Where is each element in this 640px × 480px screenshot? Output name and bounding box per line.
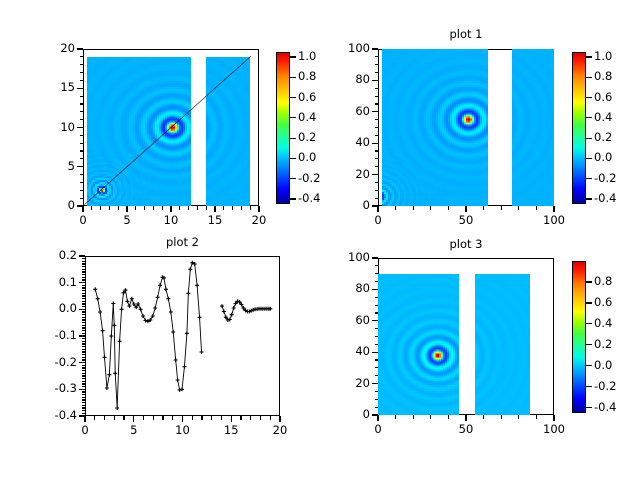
x-tick-major [465, 206, 466, 212]
x-tick-label: 20 [234, 214, 284, 226]
y-tick-major [77, 48, 83, 49]
x-tick-minor [413, 206, 414, 210]
colorbar-tick [290, 77, 296, 78]
y-tick-label: 15 [31, 81, 75, 93]
y-tick-minor [80, 135, 84, 136]
x-tick-major [258, 206, 259, 212]
x-tick-label: 15 [190, 214, 240, 226]
y-tick-minor [82, 359, 86, 360]
y-tick-minor [82, 330, 86, 331]
x-tick-label: 50 [441, 214, 491, 226]
y-tick-minor [82, 410, 86, 411]
line-marker [186, 291, 190, 295]
line-marker [98, 310, 102, 314]
x-tick-minor [91, 206, 92, 210]
y-tick-minor [80, 64, 84, 65]
x-tick-label: 0 [60, 424, 110, 436]
y-tick-minor [82, 354, 86, 355]
line-marker [200, 350, 204, 354]
y-tick-minor [82, 317, 86, 318]
colorbar-tick-label: 0.0 [594, 359, 612, 371]
y-tick-minor [82, 287, 86, 288]
y-tick-minor [82, 258, 86, 259]
x-tick-major [279, 416, 280, 422]
y-tick-minor [375, 72, 379, 73]
y-tick-minor [82, 391, 86, 392]
y-tick-minor [80, 103, 84, 104]
line-marker [195, 283, 199, 287]
line-marker [156, 295, 160, 299]
line-marker [101, 329, 105, 333]
x-tick-label: 10 [158, 424, 208, 436]
line-marker [180, 387, 184, 391]
y-tick-minor [375, 119, 379, 120]
y-tick-minor [375, 375, 379, 376]
y-tick-minor [80, 96, 84, 97]
x-tick-minor [197, 206, 198, 210]
y-tick-minor [375, 150, 379, 151]
x-tick-minor [114, 416, 115, 420]
y-tick-major [79, 389, 85, 390]
line-marker [230, 313, 234, 317]
y-tick-minor [80, 198, 84, 199]
x-tick-minor [201, 416, 202, 420]
diagonal-line [85, 56, 251, 204]
colorbar-tick-label: 0.0 [298, 151, 316, 163]
line-marker [185, 331, 189, 335]
y-tick-minor [82, 397, 86, 398]
x-tick-label: 100 [529, 214, 579, 226]
y-tick-minor [82, 338, 86, 339]
y-tick-label: 0 [326, 199, 370, 211]
y-tick-minor [80, 182, 84, 183]
y-tick-minor [82, 298, 86, 299]
colorbar-tick [586, 77, 592, 78]
line-marker [178, 388, 182, 392]
line-marker [96, 297, 100, 301]
y-tick-label: 20 [326, 377, 370, 389]
colorbar-tick [290, 158, 296, 159]
x-tick-minor [483, 206, 484, 210]
colorbar-tick-label: 1.0 [594, 50, 612, 62]
line-marker [198, 315, 202, 319]
colorbar-tick-label: 0.8 [594, 275, 612, 287]
y-tick-minor [82, 274, 86, 275]
line-marker [183, 365, 187, 369]
x-tick-minor [211, 416, 212, 420]
y-tick-minor [82, 394, 86, 395]
colorbar-tick [586, 344, 592, 345]
colorbar-tick-label: 0.2 [594, 131, 612, 143]
x-tick-minor [501, 206, 502, 210]
y-tick-label: 0.2 [33, 249, 77, 261]
y-tick-major [372, 111, 378, 112]
x-tick-major [182, 416, 183, 422]
y-tick-minor [82, 311, 86, 312]
y-tick-minor [375, 344, 379, 345]
y-tick-major [372, 289, 378, 290]
y-tick-minor [375, 182, 379, 183]
colorbar-tick-label: 0.8 [594, 70, 612, 82]
x-tick-major [170, 206, 171, 212]
y-tick-minor [375, 407, 379, 408]
line-marker [166, 297, 170, 301]
y-tick-minor [375, 56, 379, 57]
y-tick-minor [82, 314, 86, 315]
x-tick-major [553, 206, 554, 212]
colorbar-tick-label: 0.4 [594, 111, 612, 123]
figure-canvas: 0510152005101520 -0.4-0.20.00.20.40.60.8… [0, 0, 640, 480]
y-tick-minor [82, 381, 86, 382]
y-tick-minor [82, 266, 86, 267]
line-marker [127, 304, 131, 308]
y-tick-minor [375, 391, 379, 392]
x-tick-label: 100 [529, 423, 579, 435]
y-tick-minor [80, 150, 84, 151]
y-tick-minor [375, 312, 379, 313]
heatmap-image-a [378, 274, 459, 415]
x-tick-label: 0 [353, 214, 403, 226]
x-tick-minor [395, 206, 396, 210]
y-tick-minor [375, 281, 379, 282]
line-marker [174, 358, 178, 362]
y-tick-minor [375, 135, 379, 136]
y-tick-minor [82, 341, 86, 342]
line-marker [103, 355, 107, 359]
y-tick-major [77, 88, 83, 89]
x-tick-minor [135, 206, 136, 210]
y-tick-minor [375, 64, 379, 65]
line-marker [115, 406, 119, 410]
x-tick-minor [250, 416, 251, 420]
y-tick-minor [82, 285, 86, 286]
y-tick-minor [82, 365, 86, 366]
colorbar-tick [290, 56, 296, 57]
line-marker [105, 386, 109, 390]
x-tick-minor [188, 206, 189, 210]
y-tick-minor [82, 269, 86, 270]
y-tick-label: 20 [326, 168, 370, 180]
y-tick-minor [82, 327, 86, 328]
x-tick-minor [518, 415, 519, 419]
y-tick-minor [82, 271, 86, 272]
line-marker [139, 307, 143, 311]
y-tick-minor [375, 88, 379, 89]
x-tick-minor [104, 416, 105, 420]
y-tick-minor [82, 370, 86, 371]
x-tick-minor [94, 416, 95, 420]
colorbar-tick [586, 198, 592, 199]
colorbar-tick [290, 198, 296, 199]
colorbar-tick [586, 56, 592, 57]
line-marker [228, 318, 232, 322]
x-tick-minor [162, 416, 163, 420]
line-marker [113, 371, 117, 375]
y-tick-minor [82, 279, 86, 280]
y-tick-major [79, 335, 85, 336]
x-tick-minor [536, 206, 537, 210]
colorbar-tick-label: -0.4 [594, 401, 616, 413]
y-tick-minor [375, 166, 379, 167]
line-series-container [85, 256, 280, 416]
y-tick-minor [80, 119, 84, 120]
y-tick-label: 0 [31, 199, 75, 211]
colorbar-tick [290, 178, 296, 179]
y-tick-minor [82, 301, 86, 302]
y-tick-minor [375, 96, 379, 97]
y-tick-minor [375, 399, 379, 400]
colorbar-tick-label: 0.2 [298, 131, 316, 143]
line-marker [111, 302, 115, 306]
x-tick-minor [144, 206, 145, 210]
colorbar-tick-label: -0.4 [298, 192, 320, 204]
subplot-bottom-left-title: plot 2 [85, 236, 280, 248]
x-tick-major [377, 206, 378, 212]
y-tick-minor [80, 190, 84, 191]
y-tick-major [372, 257, 378, 258]
y-tick-major [372, 320, 378, 321]
y-tick-minor [375, 336, 379, 337]
y-tick-minor [82, 343, 86, 344]
x-tick-minor [448, 206, 449, 210]
y-tick-minor [82, 373, 86, 374]
y-tick-minor [375, 328, 379, 329]
y-tick-minor [80, 80, 84, 81]
colorbar-tick-label: 1.0 [298, 50, 316, 62]
x-tick-minor [448, 415, 449, 419]
line-marker [153, 306, 157, 310]
y-tick-minor [82, 413, 86, 414]
line-marker [232, 306, 236, 310]
y-tick-minor [82, 261, 86, 262]
y-tick-minor [80, 56, 84, 57]
y-tick-minor [82, 386, 86, 387]
colorbar-tick-label: 0.6 [594, 296, 612, 308]
colorbar-tick [290, 138, 296, 139]
y-tick-minor [82, 346, 86, 347]
x-tick-minor [192, 416, 193, 420]
x-tick-label: 5 [109, 424, 159, 436]
line-marker [141, 314, 145, 318]
line-marker [164, 287, 168, 291]
x-tick-minor [241, 206, 242, 210]
x-tick-major [214, 206, 215, 212]
x-tick-minor [232, 206, 233, 210]
x-tick-major [553, 415, 554, 421]
x-tick-major [82, 206, 83, 212]
y-tick-minor [375, 367, 379, 368]
x-tick-minor [179, 206, 180, 210]
x-tick-minor [483, 415, 484, 419]
x-tick-label: 15 [206, 424, 256, 436]
heatmap-image-b [512, 49, 554, 206]
x-tick-major [377, 415, 378, 421]
y-tick-minor [375, 359, 379, 360]
y-tick-label: 80 [326, 73, 370, 85]
colorbar-tick-label: -0.2 [594, 380, 616, 392]
y-tick-major [77, 166, 83, 167]
x-tick-major [231, 416, 232, 422]
y-tick-minor [80, 143, 84, 144]
y-tick-minor [82, 290, 86, 291]
x-tick-minor [430, 206, 431, 210]
y-tick-label: 100 [326, 251, 370, 263]
y-tick-major [79, 282, 85, 283]
x-tick-minor [123, 416, 124, 420]
line-marker [112, 323, 116, 327]
y-tick-minor [82, 378, 86, 379]
x-tick-minor [118, 206, 119, 210]
y-tick-minor [375, 297, 379, 298]
y-tick-minor [82, 277, 86, 278]
y-tick-label: 80 [326, 282, 370, 294]
x-tick-minor [536, 415, 537, 419]
y-tick-major [372, 143, 378, 144]
line-marker [125, 299, 129, 303]
y-tick-minor [82, 357, 86, 358]
colorbar-tick-label: 0.0 [594, 151, 612, 163]
x-tick-minor [430, 415, 431, 419]
x-tick-minor [206, 206, 207, 210]
y-tick-minor [82, 319, 86, 320]
colorbar-tick-label: 0.8 [298, 70, 316, 82]
x-tick-label: 5 [102, 214, 152, 226]
line-marker [120, 307, 124, 311]
colorbar-tick-label: -0.2 [298, 172, 320, 184]
colorbar-tick-label: 0.4 [298, 111, 316, 123]
y-tick-minor [375, 158, 379, 159]
y-tick-label: 0.0 [33, 302, 77, 314]
x-tick-minor [153, 206, 154, 210]
y-tick-label: 10 [31, 121, 75, 133]
y-tick-minor [375, 198, 379, 199]
y-tick-label: 40 [326, 136, 370, 148]
x-tick-label: 20 [255, 424, 305, 436]
colorbar-tick [290, 117, 296, 118]
y-tick-label: -0.1 [33, 329, 77, 341]
line-marker [130, 297, 134, 301]
line-marker [93, 287, 97, 291]
colorbar-tick [586, 365, 592, 366]
y-tick-label: 20 [31, 42, 75, 54]
colorbar-tick [586, 117, 592, 118]
x-tick-minor [143, 416, 144, 420]
line-marker [118, 339, 122, 343]
y-tick-minor [82, 303, 86, 304]
heatmap-image-b [475, 274, 530, 415]
colorbar-tick [586, 407, 592, 408]
y-tick-major [79, 362, 85, 363]
line-marker [158, 283, 162, 287]
y-tick-minor [82, 263, 86, 264]
y-tick-label: 0 [326, 408, 370, 420]
x-tick-major [465, 415, 466, 421]
colorbar-tick-label: 0.6 [298, 91, 316, 103]
colorbar-top-right [572, 52, 586, 204]
x-tick-minor [162, 206, 163, 210]
x-tick-minor [270, 416, 271, 420]
y-tick-minor [375, 127, 379, 128]
y-tick-label: 40 [326, 345, 370, 357]
line-marker [220, 304, 224, 308]
x-tick-major [84, 416, 85, 422]
y-tick-label: 0.1 [33, 276, 77, 288]
x-tick-minor [240, 416, 241, 420]
x-tick-minor [501, 415, 502, 419]
y-tick-label: -0.4 [33, 409, 77, 421]
y-tick-label: 60 [326, 105, 370, 117]
x-tick-minor [250, 206, 251, 210]
subplot-top-right-title: plot 1 [378, 28, 554, 40]
line-marker [222, 310, 226, 314]
x-tick-minor [100, 206, 101, 210]
colorbar-tick [586, 281, 592, 282]
y-tick-minor [82, 351, 86, 352]
y-tick-label: -0.3 [33, 382, 77, 394]
y-tick-minor [82, 407, 86, 408]
line-marker [188, 267, 192, 271]
line-marker [171, 330, 175, 334]
x-tick-minor [153, 416, 154, 420]
colorbar-tick [586, 386, 592, 387]
y-tick-label: -0.2 [33, 356, 77, 368]
y-tick-minor [82, 295, 86, 296]
y-tick-minor [80, 72, 84, 73]
y-tick-minor [82, 383, 86, 384]
x-tick-minor [413, 415, 414, 419]
colorbar-tick [586, 97, 592, 98]
y-tick-minor [375, 305, 379, 306]
x-tick-label: 10 [146, 214, 196, 226]
x-tick-minor [221, 416, 222, 420]
y-tick-label: 100 [326, 42, 370, 54]
y-tick-minor [80, 111, 84, 112]
y-tick-minor [82, 293, 86, 294]
colorbar-tick-label: 0.6 [594, 91, 612, 103]
x-tick-major [133, 416, 134, 422]
y-tick-minor [82, 405, 86, 406]
colorbar-tick-label: 0.4 [594, 317, 612, 329]
x-tick-minor [172, 416, 173, 420]
y-tick-minor [82, 402, 86, 403]
heatmap-image-a [382, 49, 488, 206]
y-tick-label: 60 [326, 314, 370, 326]
x-tick-label: 0 [58, 214, 108, 226]
y-tick-minor [82, 333, 86, 334]
line-marker [109, 334, 113, 338]
colorbar-tick [586, 178, 592, 179]
x-tick-minor [223, 206, 224, 210]
x-tick-minor [260, 416, 261, 420]
x-tick-minor [109, 206, 110, 210]
y-tick-minor [375, 265, 379, 266]
y-tick-major [372, 174, 378, 175]
y-tick-minor [82, 399, 86, 400]
y-tick-minor [82, 322, 86, 323]
y-tick-minor [82, 325, 86, 326]
y-tick-major [77, 127, 83, 128]
colorbar-tick-label: 0.2 [594, 338, 612, 350]
colorbar-bottom-right [572, 261, 586, 413]
subplot-bottom-right-title: plot 3 [378, 238, 554, 250]
x-tick-label: 50 [441, 423, 491, 435]
overlay-diagonal-line [83, 49, 259, 206]
colorbar-tick-label: -0.2 [594, 172, 616, 184]
colorbar-tick [290, 97, 296, 98]
x-tick-minor [395, 415, 396, 419]
y-tick-minor [80, 174, 84, 175]
y-tick-major [372, 352, 378, 353]
